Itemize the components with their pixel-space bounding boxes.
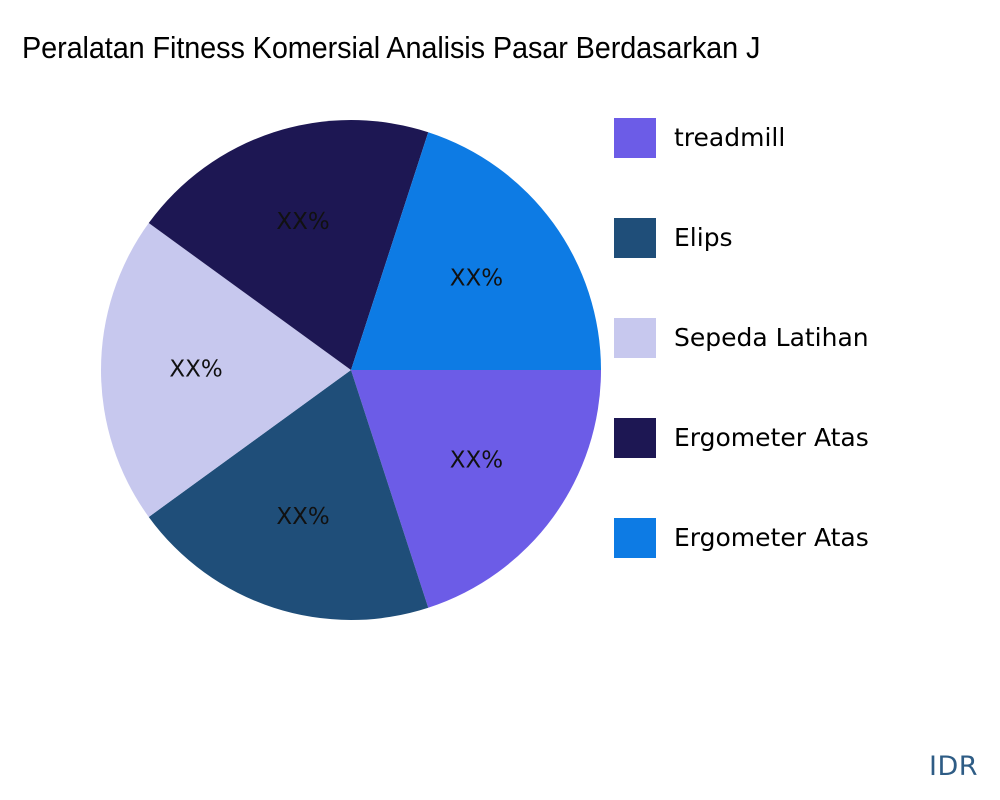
legend-item-label: treadmill [674, 110, 785, 166]
legend-item-label: Sepeda Latihan [674, 310, 869, 366]
page-title: Peralatan Fitness Komersial Analisis Pas… [22, 22, 952, 74]
legend-item[interactable]: Ergometer Atas [614, 410, 994, 510]
legend-color-swatch [614, 118, 656, 158]
legend-item[interactable]: Elips [614, 210, 994, 310]
pie-slice-label: XX% [169, 357, 222, 383]
legend-color-swatch [614, 518, 656, 558]
legend-color-swatch [614, 318, 656, 358]
legend-item[interactable]: treadmill [614, 110, 994, 210]
legend-item-label: Ergometer Atas [674, 410, 869, 466]
legend-item[interactable]: Sepeda Latihan [614, 310, 994, 410]
legend-color-swatch [614, 218, 656, 258]
legend-item-label: Ergometer Atas [674, 510, 869, 566]
pie-slice-label: XX% [276, 504, 329, 530]
pie-slice-label: XX% [450, 448, 503, 474]
pie-slice-label: XX% [276, 209, 329, 235]
legend-item[interactable]: Ergometer Atas [614, 510, 994, 610]
legend-color-swatch [614, 418, 656, 458]
pie-chart-svg: XX%XX%XX%XX%XX% [101, 120, 601, 620]
pie-slice-label: XX% [450, 265, 503, 291]
legend: treadmillElipsSepeda LatihanErgometer At… [614, 110, 994, 610]
pie-chart: XX%XX%XX%XX%XX% [101, 120, 601, 620]
legend-item-label: Elips [674, 210, 733, 266]
watermark-text: IDR [929, 751, 978, 782]
